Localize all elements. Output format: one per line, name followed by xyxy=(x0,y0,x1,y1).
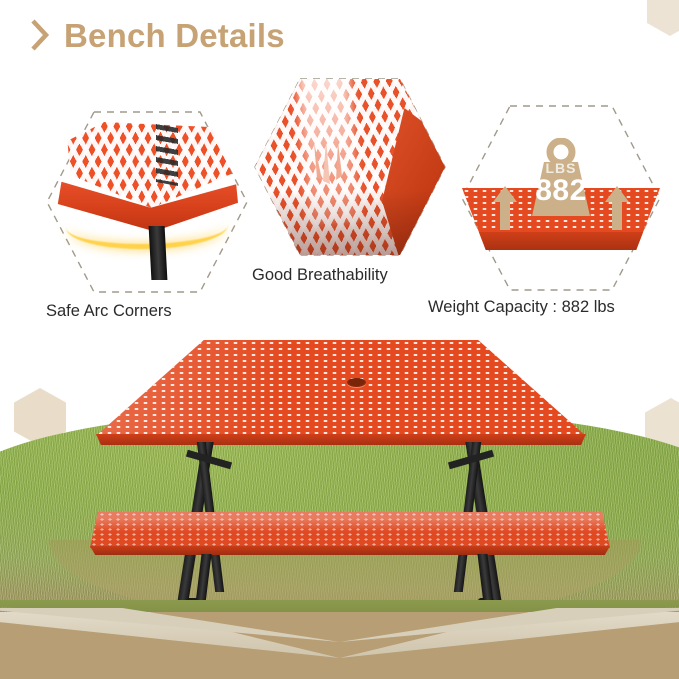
arrow-up-icon-left xyxy=(492,184,518,232)
airflow-arrow-icon xyxy=(308,140,354,196)
decorative-hexagon-top-right xyxy=(647,0,679,36)
arrow-up-icon-right xyxy=(604,184,630,232)
chevron-right-icon xyxy=(30,18,50,52)
table-leg xyxy=(149,226,168,280)
section-header: Bench Details xyxy=(30,18,285,52)
table-top-edge xyxy=(96,434,586,445)
feature-row: Safe Arc Corners G xyxy=(0,78,679,318)
feature-caption-good-breathability: Good Breathability xyxy=(252,266,388,285)
umbrella-hole xyxy=(347,378,366,387)
weight-block-icon: LBS 882 xyxy=(518,138,604,218)
feature-caption-weight-capacity: Weight Capacity : 882 lbs xyxy=(428,298,615,317)
table-top xyxy=(96,340,586,436)
feature-weight-capacity: LBS 882 Weight Capacity : 882 lbs xyxy=(456,100,666,296)
bench-seat-shine xyxy=(90,512,610,548)
feature-safe-arc-corners: Safe Arc Corners xyxy=(42,106,252,298)
feature-good-breathability: Good Breathability xyxy=(250,74,450,260)
slab-edge xyxy=(462,232,660,250)
feature-caption-safe-arc-corners: Safe Arc Corners xyxy=(46,302,172,321)
product-photo xyxy=(0,330,679,630)
arc-corner-highlight xyxy=(66,203,229,251)
bench-seat xyxy=(90,512,610,548)
infographic-page: Bench Details Safe Arc Corners xyxy=(0,0,679,679)
pavement-band xyxy=(0,612,679,679)
table-top-shine xyxy=(96,340,586,436)
table-shadow-slots xyxy=(156,124,178,186)
page-title: Bench Details xyxy=(64,19,285,52)
bench-seat-edge xyxy=(90,546,610,555)
weight-value: 882 xyxy=(518,174,604,208)
